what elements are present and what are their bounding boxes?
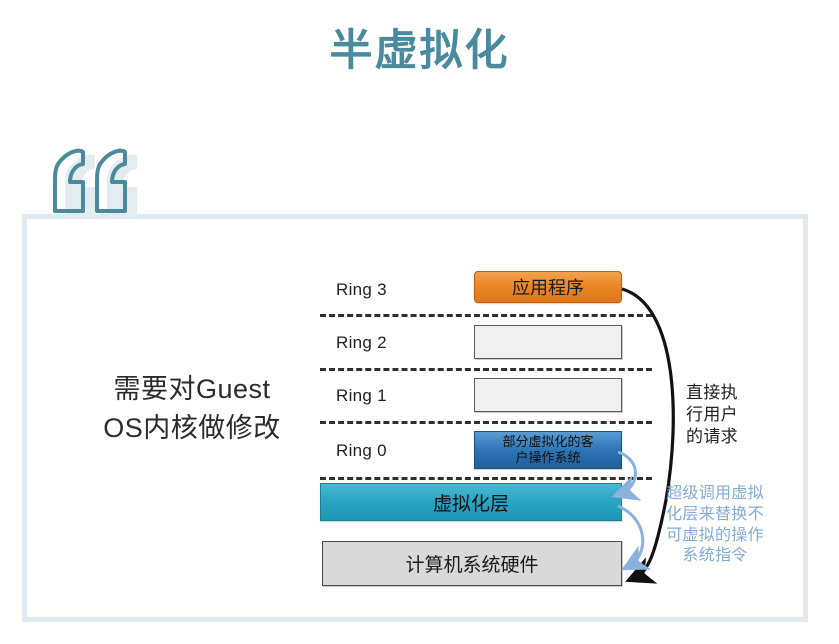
hypercall-line-1: 超级调用虚拟: [662, 484, 768, 505]
direct-execution-line-3: 的请求: [676, 426, 748, 448]
hypercall-line-3: 可虚拟的操作: [662, 526, 768, 547]
left-caption-line-1: 需要对Guest: [72, 370, 312, 409]
direct-execution-annotation: 直接执 行用户 的请求: [676, 382, 748, 448]
ring-label-0: Ring 0: [336, 441, 387, 461]
ring2-empty-box: [474, 325, 622, 359]
double-quote-icon: [42, 148, 138, 220]
left-caption-line-2: OS内核做修改: [72, 409, 312, 448]
ring-divider-2-1: [320, 368, 652, 371]
ring-label-3: Ring 3: [336, 280, 387, 300]
hypercall-annotation: 超级调用虚拟 化层来替换不 可虚拟的操作 系统指令: [662, 484, 768, 567]
ring1-empty-box: [474, 378, 622, 412]
hypercall-line-2: 化层来替换不: [662, 505, 768, 526]
ring-label-1: Ring 1: [336, 386, 387, 406]
ring-divider-1-0: [320, 421, 652, 424]
page-title: 半虚拟化: [0, 28, 839, 75]
hypercall-line-4: 系统指令: [662, 546, 768, 567]
guest-os-box: 部分虚拟化的客 户操作系统: [474, 431, 622, 469]
hardware-layer-box: 计算机系统硬件: [322, 541, 622, 586]
direct-execution-line-2: 行用户: [676, 404, 748, 426]
ring-label-2: Ring 2: [336, 333, 387, 353]
guest-os-label-line-1: 部分虚拟化的客: [502, 434, 593, 449]
guest-os-label-line-2: 户操作系统: [515, 450, 580, 465]
direct-execution-line-1: 直接执: [676, 382, 748, 404]
virtualization-layer-box: 虚拟化层: [320, 483, 622, 521]
ring-divider-0-vmm: [320, 477, 652, 480]
ring-divider-3-2: [320, 314, 652, 317]
left-caption: 需要对Guest OS内核做修改: [72, 370, 312, 448]
application-box: 应用程序: [474, 271, 622, 303]
